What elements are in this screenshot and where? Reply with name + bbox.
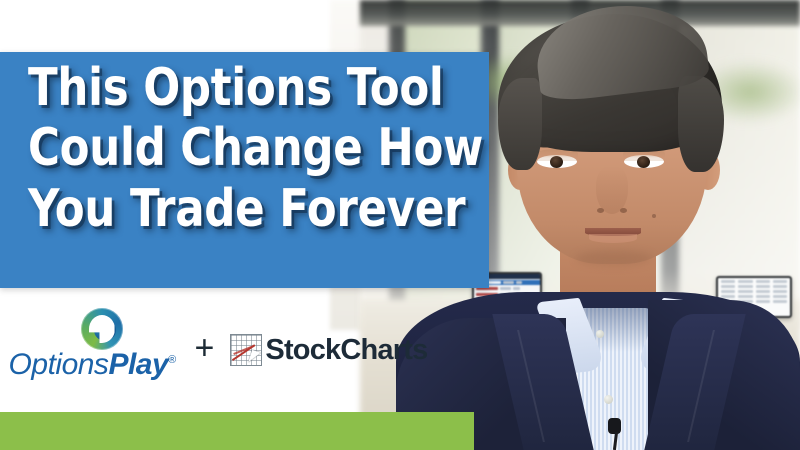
green-accent-bar xyxy=(0,412,474,450)
nostril-left xyxy=(597,208,604,213)
optionsplay-word-part-1: Options xyxy=(9,348,109,381)
title-line-2: Could Change How xyxy=(28,118,448,178)
logo-row: OptionsPlay® + StockCharts xyxy=(0,296,428,404)
stockcharts-wordmark: StockCharts xyxy=(265,334,427,367)
cheek-mark xyxy=(652,214,656,218)
optionsplay-wordmark: OptionsPlay® xyxy=(9,348,179,382)
stockcharts-grid-cursor-icon xyxy=(230,334,262,366)
optionsplay-logo: OptionsPlay® xyxy=(9,306,179,394)
optionsplay-circle-icon xyxy=(81,308,123,350)
chin-shadow xyxy=(576,250,652,266)
optionsplay-icon-inner xyxy=(94,319,116,341)
title-line-3: You Trade Forever xyxy=(28,179,448,239)
hair-side-right xyxy=(678,76,724,172)
thumbnail-title: This Options Tool Could Change How You T… xyxy=(28,58,448,239)
shirt-button-top xyxy=(596,330,604,338)
nose xyxy=(596,166,628,214)
title-line-1: This Options Tool xyxy=(28,58,448,118)
optionsplay-word-part-2: Play xyxy=(108,348,168,381)
lower-lip xyxy=(589,234,637,243)
registered-trademark-symbol: ® xyxy=(168,354,176,366)
hair-side-left xyxy=(498,78,542,170)
plus-separator: + xyxy=(195,331,215,369)
shirt-button-middle xyxy=(604,395,613,404)
stockcharts-logo: StockCharts xyxy=(230,334,427,367)
video-thumbnail: This Options Tool Could Change How You T… xyxy=(0,0,800,450)
nostril-right xyxy=(620,208,627,213)
title-banner: This Options Tool Could Change How You T… xyxy=(0,52,489,288)
